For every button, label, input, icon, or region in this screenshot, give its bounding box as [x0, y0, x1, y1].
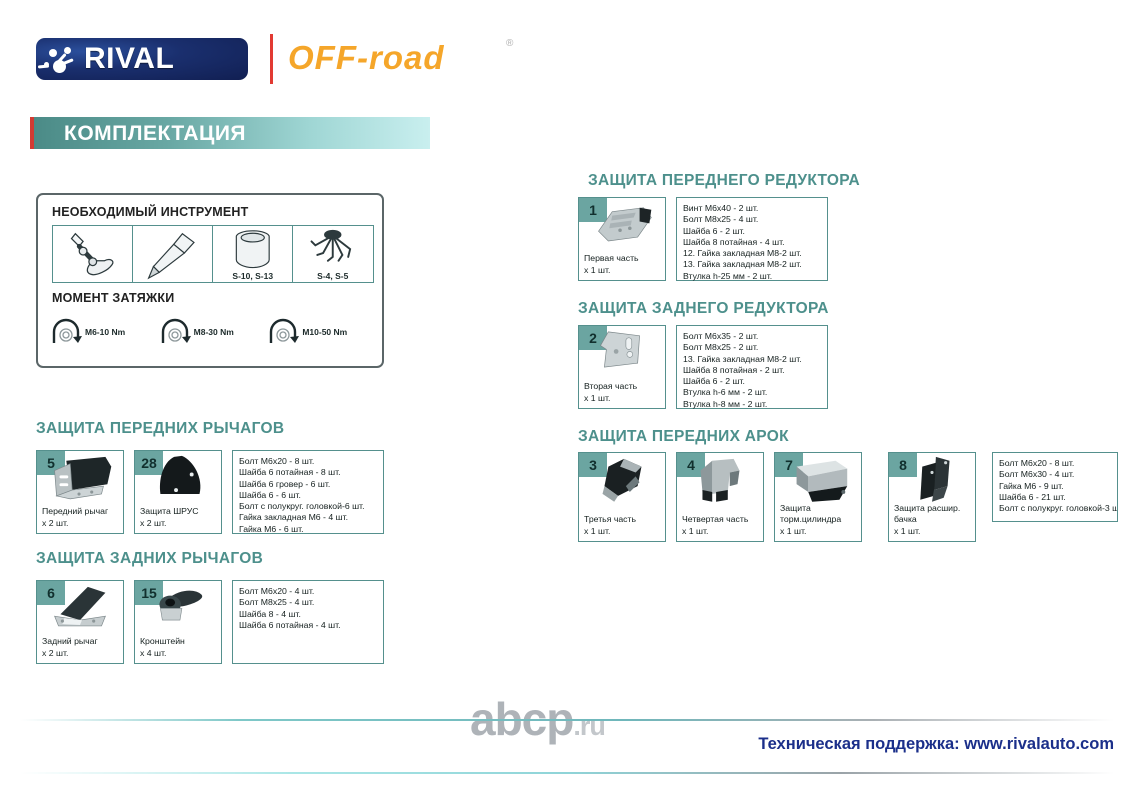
hardware-item: Гайка М6 - 9 шт.: [999, 481, 1111, 492]
hardware-item: Шайба 8 - 4 шт.: [239, 609, 377, 620]
section-heading-rear-reducer: ЗАЩИТА ЗАДНЕГО РЕДУКТОРА: [578, 300, 829, 318]
expansion-tank-guard-icon: [889, 453, 975, 508]
rear-skid-plate-icon: [579, 326, 665, 377]
page-title: КОМПЛЕКТАЦИЯ: [64, 122, 246, 146]
ratchet-wrench-icon: [53, 226, 133, 282]
hardware-item: Шайба 6 гровер - 6 шт.: [239, 479, 377, 490]
rival-logo: RIVAL: [36, 38, 248, 80]
tool-grid: S-10, S-13 S-4, S-5: [52, 225, 372, 283]
part-qty: х 1 шт.: [682, 526, 748, 538]
part-caption: Кронштейн х 4 шт.: [140, 636, 185, 659]
molecule-icon: [36, 38, 84, 80]
hardware-item: Гайка закладная М6 - 4 шт.: [239, 512, 377, 523]
part-caption: Защита ШРУС х 2 шт.: [140, 506, 199, 529]
part-caption: Третья часть х 1 шт.: [584, 514, 636, 537]
torque-arc-icon: [267, 318, 299, 346]
torque-row: M6-10 Nm M8-30 Nm M10-50 Nm: [50, 315, 376, 349]
hardware-item: Болт с полукруг. головкой-3 шт.: [999, 503, 1111, 514]
hardware-item: Шайба 6 - 6 шт.: [239, 490, 377, 501]
part-name: Первая часть: [584, 253, 639, 265]
part-card-2: 2 Вторая часть х 1 шт.: [578, 325, 666, 409]
part-caption: Передний рычаг х 2 шт.: [42, 506, 108, 529]
part-caption: Вторая часть х 1 шт.: [584, 381, 637, 404]
front-arm-bracket-icon: [37, 451, 123, 502]
part-caption: Задний рычаг х 2 шт.: [42, 636, 98, 659]
tool-caption: S-10, S-13: [213, 271, 293, 281]
support-text: Техническая поддержка: www.rivalauto.com: [758, 735, 1114, 754]
hardware-item: Шайба 8 потайная - 2 шт.: [683, 365, 821, 376]
required-tools-panel: НЕОБХОДИМЫЙ ИНСТРУМЕНТ: [36, 193, 384, 368]
torque-arc-icon: [159, 318, 191, 346]
tool-cell-socket: S-10, S-13: [212, 225, 294, 283]
hardware-item: Болт М6х20 - 8 шт.: [999, 458, 1111, 469]
part-name: Четвертая часть: [682, 514, 748, 526]
logo-separator: [270, 34, 273, 84]
hardware-item: Болт М6х20 - 4 шт.: [239, 586, 377, 597]
tool-cell-hex-keys: S-4, S-5: [292, 225, 374, 283]
page-header: RIVAL OFF-road ®: [0, 0, 1134, 100]
part-card-1: 1 Первая часть х 1 шт.: [578, 197, 666, 281]
offroad-wordmark: OFF-road: [288, 39, 444, 77]
part-qty: х 1 шт.: [584, 526, 636, 538]
torque-item-m6: M6-10 Nm: [50, 318, 159, 346]
divider-top: [20, 719, 1114, 721]
hardware-item: Втулка h-8 мм - 2 шт.: [683, 399, 821, 410]
banner-accent-bar: [30, 117, 34, 149]
part-qty: х 2 шт.: [140, 518, 199, 530]
fourth-part-icon: [677, 453, 763, 508]
watermark-tld: .ru: [573, 711, 605, 741]
part-card-7: 7 Защита торм.цилиндра х 1 шт.: [774, 452, 862, 542]
hardware-list-rear-reducer: Болт М6х35 - 2 шт. Болт М8х25 - 2 шт. 13…: [676, 325, 828, 409]
hardware-item: 13. Гайка закладная М8-2 шт.: [683, 354, 821, 365]
front-skid-plate-icon: [579, 198, 665, 249]
section-heading-front-reducer: ЗАЩИТА ПЕРЕДНЕГО РЕДУКТОРА: [588, 172, 860, 190]
part-caption: Защита торм.цилиндра х 1 шт.: [780, 503, 861, 538]
section-heading-front-arms: ЗАЩИТА ПЕРЕДНИХ РЫЧАГОВ: [36, 420, 284, 438]
screwdriver-icon: [133, 226, 213, 282]
part-name: Защита расшир. бачка: [894, 503, 975, 526]
hardware-item: Винт М6х40 - 2 шт.: [683, 203, 821, 214]
hardware-item: Шайба 6 - 21 шт.: [999, 492, 1111, 503]
hardware-item: Болт с полукруг. головкой-6 шт.: [239, 501, 377, 512]
part-card-5: 5 Передний рычаг х 2 шт.: [36, 450, 124, 534]
torque-label: M6-10 Nm: [85, 327, 125, 337]
part-qty: х 1 шт.: [584, 265, 639, 277]
part-card-8: 8 Защита расшир. бачка х 1 шт.: [888, 452, 976, 542]
hardware-list-front-reducer: Винт М6х40 - 2 шт. Болт М8х25 - 4 шт. Ша…: [676, 197, 828, 281]
cv-joint-guard-icon: [135, 451, 221, 502]
part-caption: Четвертая часть х 1 шт.: [682, 514, 748, 537]
hardware-item: Втулка h-25 мм - 2 шт.: [683, 271, 821, 282]
divider-bottom: [20, 772, 1114, 774]
part-card-3: 3 Третья часть х 1 шт.: [578, 452, 666, 542]
part-name: Защита торм.цилиндра: [780, 503, 861, 526]
part-name: Третья часть: [584, 514, 636, 526]
part-name: Вторая часть: [584, 381, 637, 393]
bracket-lever-icon: [135, 581, 221, 632]
part-qty: х 2 шт.: [42, 518, 108, 530]
tool-cell-ratchet: [52, 225, 134, 283]
section-heading-rear-arms: ЗАЩИТА ЗАДНИХ РЫЧАГОВ: [36, 550, 263, 568]
torque-label: M8-30 Nm: [194, 327, 234, 337]
hardware-item: Шайба 6 потайная - 8 шт.: [239, 467, 377, 478]
section-heading-front-arches: ЗАЩИТА ПЕРЕДНИХ АРОК: [578, 428, 789, 446]
part-card-15: 15 Кронштейн х 4 шт.: [134, 580, 222, 664]
part-name: Передний рычаг: [42, 506, 108, 518]
hardware-item: Шайба 6 потайная - 4 шт.: [239, 620, 377, 631]
brake-cylinder-guard-icon: [775, 453, 861, 508]
part-card-4: 4 Четвертая часть х 1 шт.: [676, 452, 764, 542]
hardware-item: 12. Гайка закладная М8-2 шт.: [683, 248, 821, 259]
part-qty: х 1 шт.: [894, 526, 975, 538]
part-name: Кронштейн: [140, 636, 185, 648]
torque-item-m8: M8-30 Nm: [159, 318, 268, 346]
hardware-item: Болт М8х25 - 4 шт.: [239, 597, 377, 608]
hardware-item: Болт М6х30 - 4 шт.: [999, 469, 1111, 480]
hardware-item: Болт М8х25 - 2 шт.: [683, 342, 821, 353]
rival-wordmark: RIVAL: [84, 42, 174, 76]
part-caption: Первая часть х 1 шт.: [584, 253, 639, 276]
hardware-item: Болт М6х35 - 2 шт.: [683, 331, 821, 342]
hardware-item: Шайба 8 потайная - 4 шт.: [683, 237, 821, 248]
hardware-item: Шайба 6 - 2 шт.: [683, 226, 821, 237]
tool-cell-screwdriver: [132, 225, 214, 283]
hardware-item: 13. Гайка закладная М8-2 шт.: [683, 259, 821, 270]
hardware-list-front-arches: Болт М6х20 - 8 шт. Болт М6х30 - 4 шт. Га…: [992, 452, 1118, 522]
part-qty: х 4 шт.: [140, 648, 185, 660]
hardware-list-rear-arms: Болт М6х20 - 4 шт. Болт М8х25 - 4 шт. Ша…: [232, 580, 384, 664]
part-name: Защита ШРУС: [140, 506, 199, 518]
hardware-item: Втулка h-6 мм - 2 шт.: [683, 387, 821, 398]
part-card-6: 6 Задний рычаг х 2 шт.: [36, 580, 124, 664]
torque-title: МОМЕНТ ЗАТЯЖКИ: [52, 291, 174, 305]
part-qty: х 1 шт.: [780, 526, 861, 538]
tools-title: НЕОБХОДИМЫЙ ИНСТРУМЕНТ: [52, 205, 248, 219]
part-card-28: 28 Защита ШРУС х 2 шт.: [134, 450, 222, 534]
torque-arc-icon: [50, 318, 82, 346]
third-part-icon: [579, 453, 665, 508]
torque-item-m10: M10-50 Nm: [267, 318, 376, 346]
hardware-item: Болт М8х25 - 4 шт.: [683, 214, 821, 225]
registered-mark-icon: ®: [506, 38, 513, 49]
tool-caption: S-4, S-5: [293, 271, 373, 281]
part-qty: х 1 шт.: [584, 393, 637, 405]
hardware-item: Болт М6х20 - 8 шт.: [239, 456, 377, 467]
rear-arm-bracket-icon: [37, 581, 123, 632]
part-caption: Защита расшир. бачка х 1 шт.: [894, 503, 975, 538]
hardware-item: Шайба 6 - 2 шт.: [683, 376, 821, 387]
hardware-list-front-arms: Болт М6х20 - 8 шт. Шайба 6 потайная - 8 …: [232, 450, 384, 534]
part-name: Задний рычаг: [42, 636, 98, 648]
part-qty: х 2 шт.: [42, 648, 98, 660]
hardware-item: Гайка М6 - 6 шт.: [239, 524, 377, 535]
torque-label: M10-50 Nm: [302, 327, 347, 337]
